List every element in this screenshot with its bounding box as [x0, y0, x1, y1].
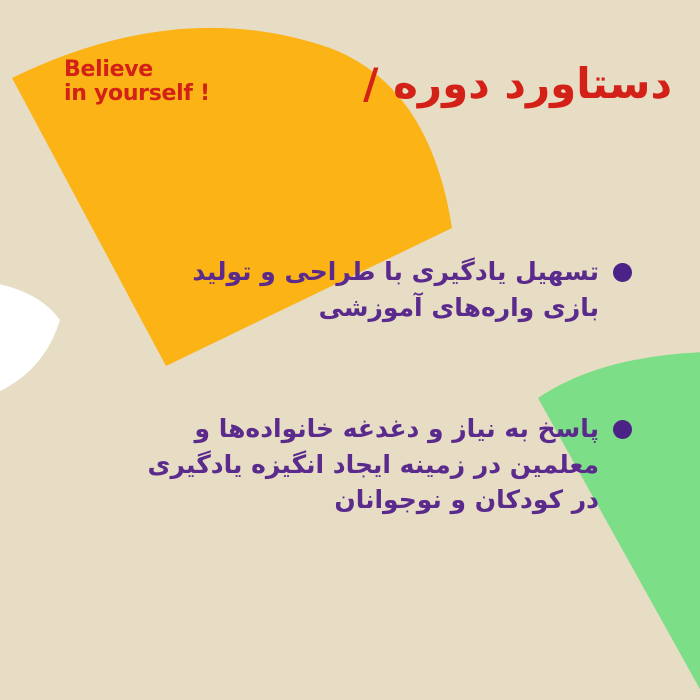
list-item-label: تسهیل یادگیری با طراحی و تولید بازی واره… [192, 254, 599, 325]
white-fan-shape [0, 283, 60, 394]
list-item-label: پاسخ به نیاز و دغدغه خانواده‌ها و معلمین… [148, 411, 599, 518]
page-title: دستاورد دوره / [363, 58, 672, 111]
list-item: تسهیل یادگیری با طراحی و تولید بازی واره… [132, 254, 632, 325]
motto-text: Believe in yourself ! [64, 58, 210, 106]
bullet-dot-icon [613, 263, 632, 282]
bullet-dot-icon [613, 420, 632, 439]
presentation-slide: Believe in yourself ! دستاورد دوره / تسه… [0, 0, 700, 700]
list-item: پاسخ به نیاز و دغدغه خانواده‌ها و معلمین… [72, 411, 632, 518]
